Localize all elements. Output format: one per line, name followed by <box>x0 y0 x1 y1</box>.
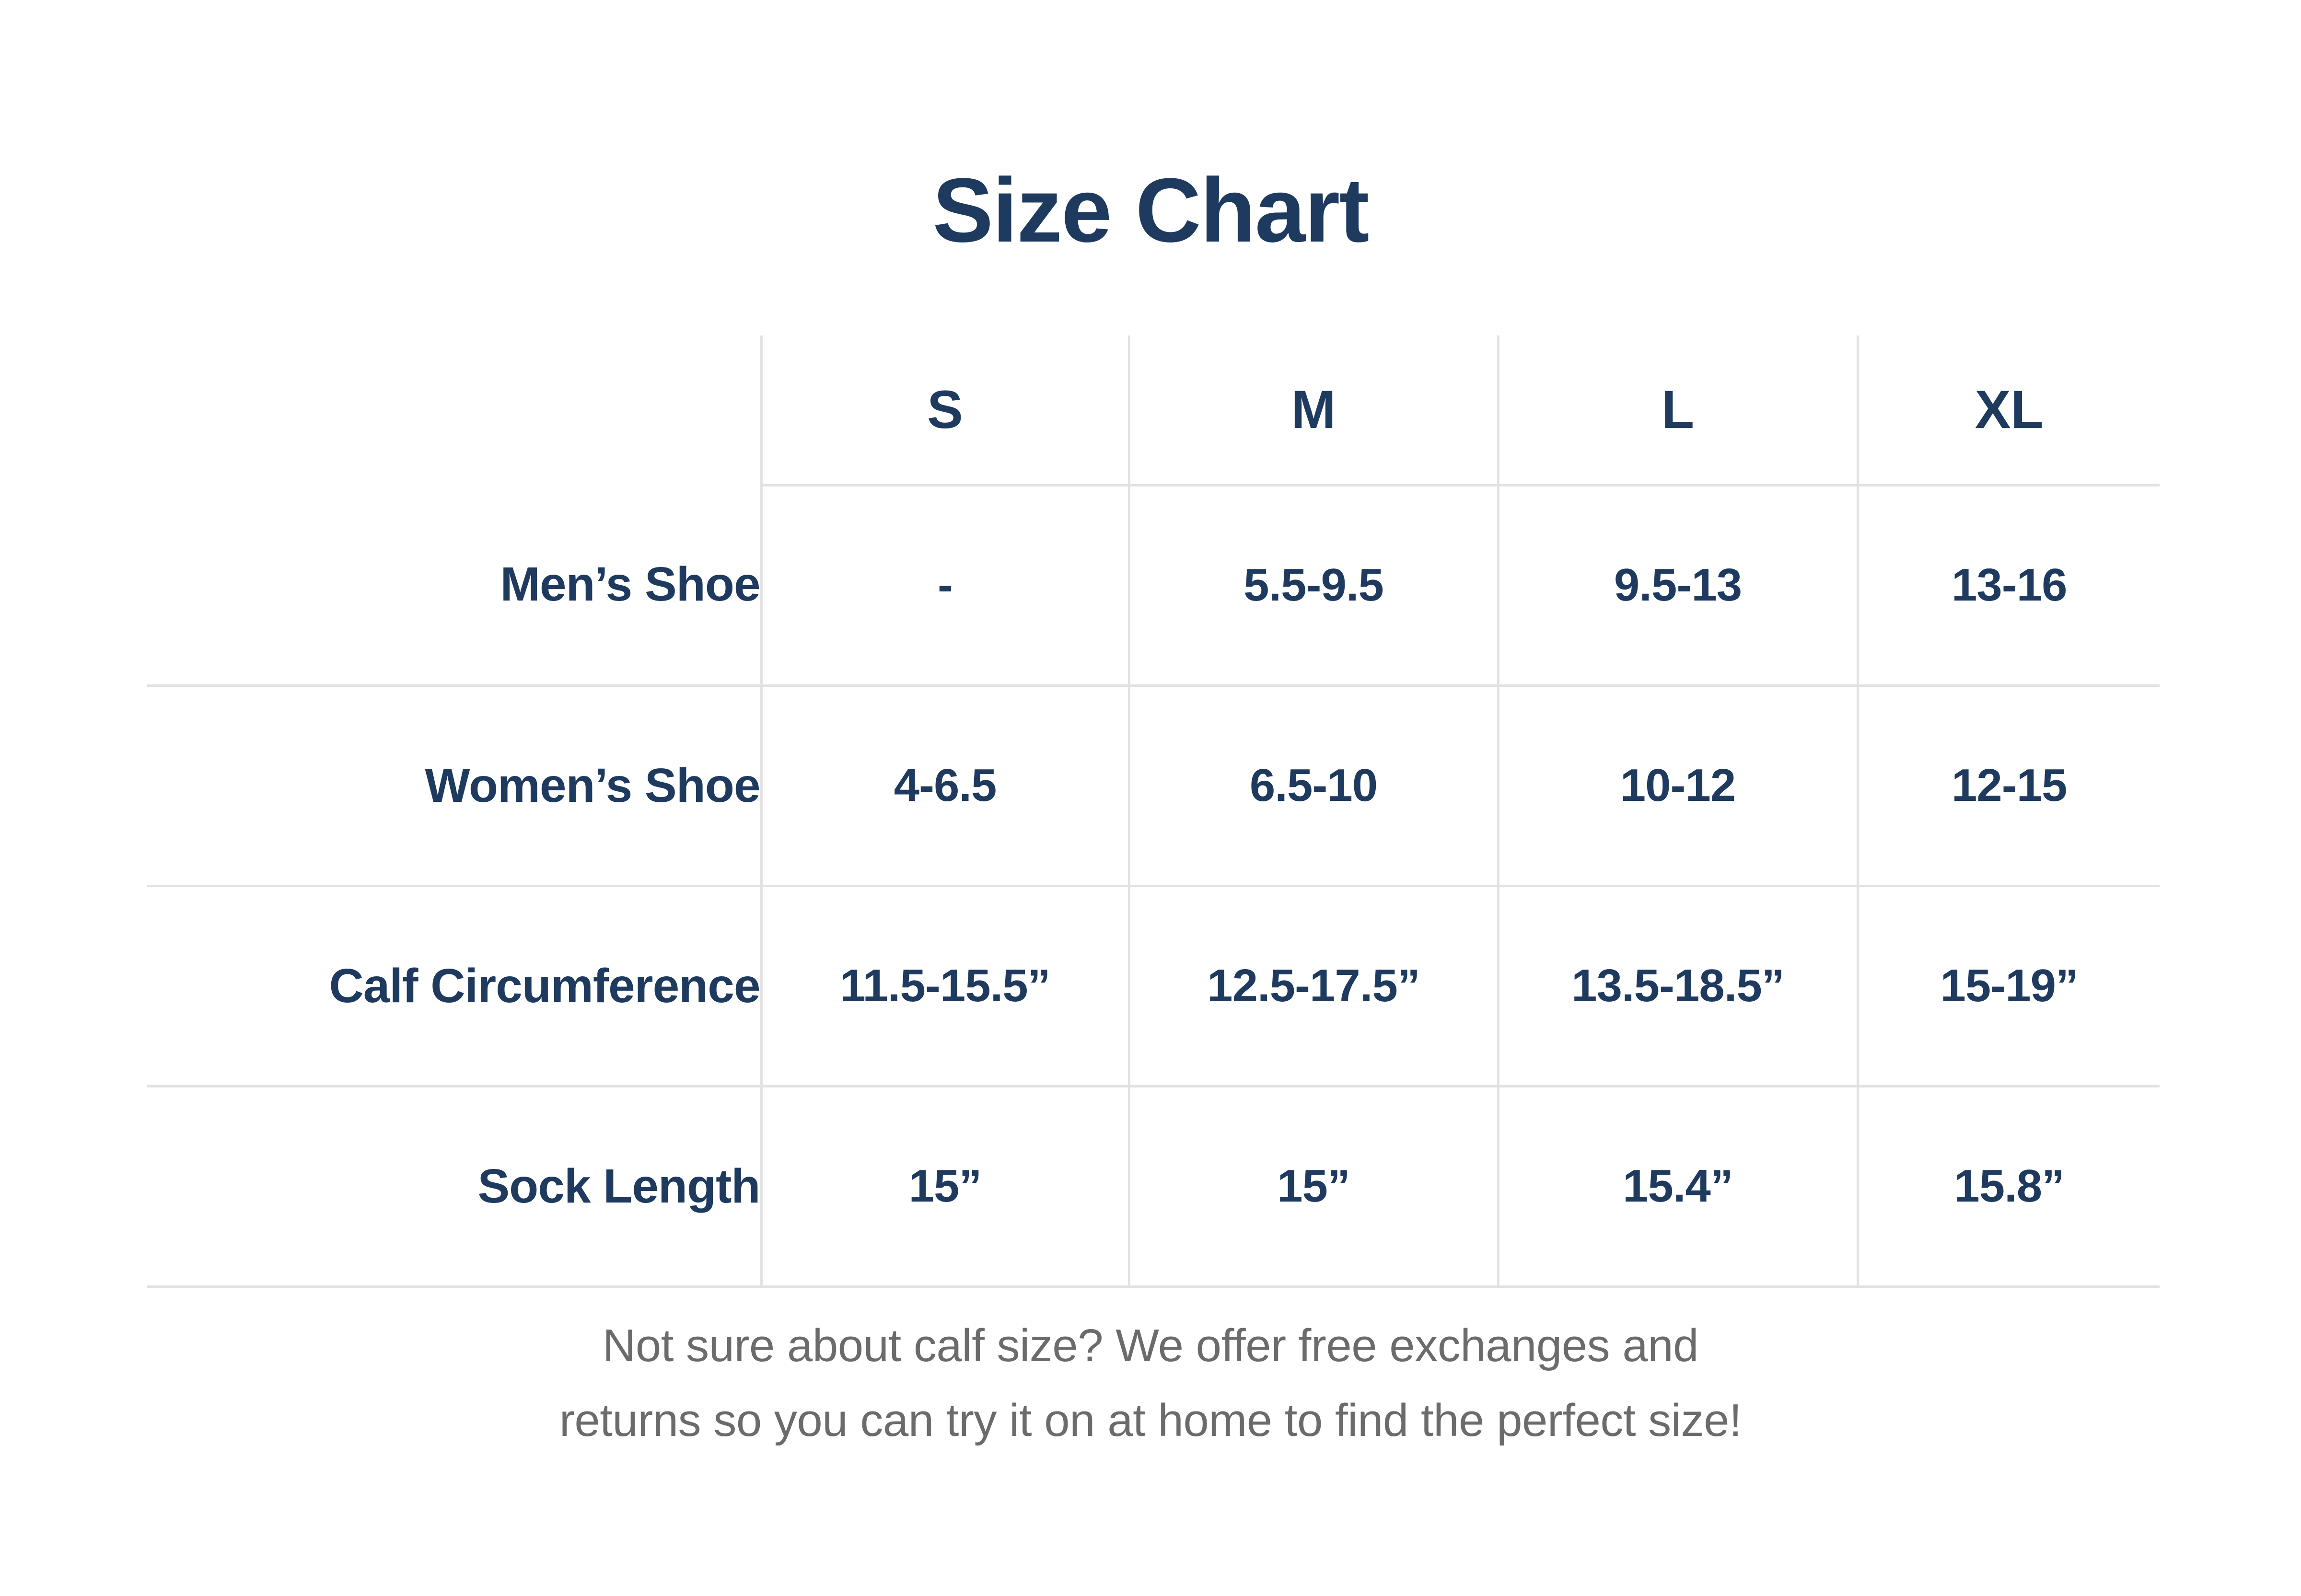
row-label-calf-circumference: Calf Circumference <box>147 886 761 1086</box>
size-chart-table: S M L XL Men’s Shoe - 5.5-9.5 9.5-13 13-… <box>147 335 2160 1288</box>
column-header-xl: XL <box>1858 335 2160 485</box>
cell-sock-length-l: 15.4” <box>1498 1086 1858 1286</box>
size-chart-page: Size Chart S M L XL M <box>0 0 2301 1596</box>
column-header-measurement <box>147 335 761 485</box>
size-table-container: S M L XL Men’s Shoe - 5.5-9.5 9.5-13 13-… <box>147 335 2160 1261</box>
cell-calf-circumference-m: 12.5-17.5” <box>1129 886 1498 1086</box>
page-title: Size Chart <box>0 163 2301 259</box>
cell-sock-length-m: 15” <box>1129 1086 1498 1286</box>
table-row: Calf Circumference 11.5-15.5” 12.5-17.5”… <box>147 886 2160 1086</box>
cell-mens-shoe-l: 9.5-13 <box>1498 485 1858 685</box>
table-row: Men’s Shoe - 5.5-9.5 9.5-13 13-16 <box>147 485 2160 685</box>
cell-sock-length-xl: 15.8” <box>1858 1086 2160 1286</box>
table-row: Sock Length 15” 15” 15.4” 15.8” <box>147 1086 2160 1286</box>
footer-note-line-1: Not sure about calf size? We offer free … <box>0 1308 2301 1383</box>
column-header-l: L <box>1498 335 1858 485</box>
cell-mens-shoe-xl: 13-16 <box>1858 485 2160 685</box>
row-label-sock-length: Sock Length <box>147 1086 761 1286</box>
cell-calf-circumference-s: 11.5-15.5” <box>761 886 1129 1086</box>
row-label-mens-shoe: Men’s Shoe <box>147 485 761 685</box>
footer-note-line-2: returns so you can try it on at home to … <box>0 1383 2301 1458</box>
table-row: Women’s Shoe 4-6.5 6.5-10 10-12 12-15 <box>147 685 2160 886</box>
footer-note: Not sure about calf size? We offer free … <box>0 1308 2301 1457</box>
cell-womens-shoe-m: 6.5-10 <box>1129 685 1498 886</box>
cell-sock-length-s: 15” <box>761 1086 1129 1286</box>
cell-calf-circumference-l: 13.5-18.5” <box>1498 886 1858 1086</box>
table-header-row: S M L XL <box>147 335 2160 485</box>
column-header-m: M <box>1129 335 1498 485</box>
cell-womens-shoe-xl: 12-15 <box>1858 685 2160 886</box>
cell-mens-shoe-s: - <box>761 485 1129 685</box>
cell-womens-shoe-l: 10-12 <box>1498 685 1858 886</box>
cell-womens-shoe-s: 4-6.5 <box>761 685 1129 886</box>
row-label-womens-shoe: Women’s Shoe <box>147 685 761 886</box>
cell-calf-circumference-xl: 15-19” <box>1858 886 2160 1086</box>
cell-mens-shoe-m: 5.5-9.5 <box>1129 485 1498 685</box>
column-header-s: S <box>761 335 1129 485</box>
